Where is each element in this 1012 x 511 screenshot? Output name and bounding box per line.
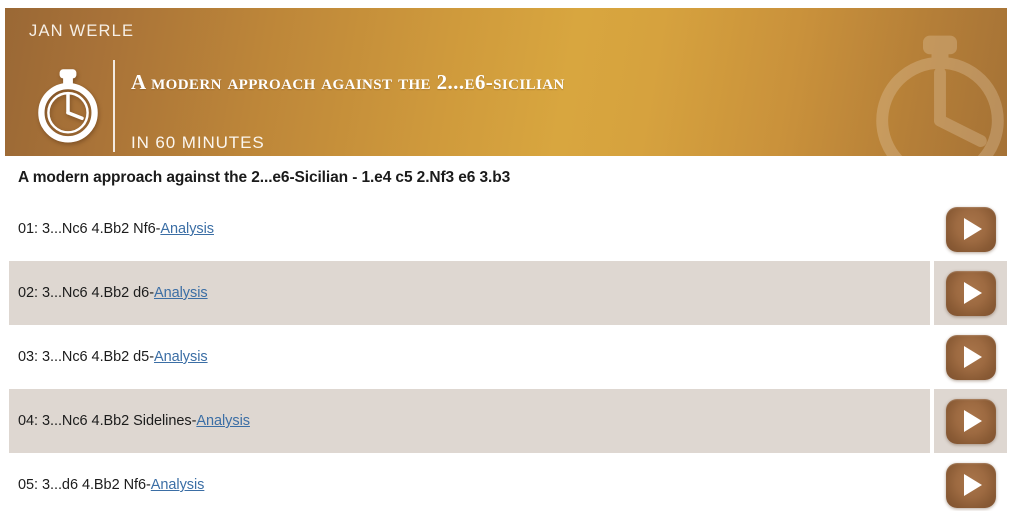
list-item[interactable]: 01: 3...Nc6 4.Bb2 Nf6 - Analysis [9,197,1007,261]
list-item[interactable]: 02: 3...Nc6 4.Bb2 d6 - Analysis [9,261,1007,325]
row-button-cell [934,261,1007,325]
chapter-title: A modern approach against the 2...e6-Sic… [0,156,1012,197]
row-move-label: 04: 3...Nc6 4.Bb2 Sidelines [18,413,192,429]
banner-divider [113,60,115,152]
play-icon[interactable] [946,271,996,316]
play-icon[interactable] [946,335,996,380]
play-icon[interactable] [946,207,996,252]
row-text: 05: 3...d6 4.Bb2 Nf6 - Analysis [9,453,930,511]
stopwatch-watermark-icon [855,22,1007,156]
analysis-link[interactable]: Analysis [151,477,205,493]
row-move-label: 05: 3...d6 4.Bb2 Nf6 [18,477,146,493]
play-icon[interactable] [946,463,996,508]
row-button-cell [934,197,1007,261]
play-triangle-glyph [964,282,982,304]
analysis-link[interactable]: Analysis [154,285,208,301]
play-triangle-glyph [964,346,982,368]
list-item[interactable]: 05: 3...d6 4.Bb2 Nf6 - Analysis [9,453,1007,511]
list-item[interactable]: 04: 3...Nc6 4.Bb2 Sidelines - Analysis [9,389,1007,453]
content-area: A modern approach against the 2...e6-Sic… [0,156,1012,511]
row-text: 04: 3...Nc6 4.Bb2 Sidelines - Analysis [9,389,930,453]
banner-title: A MODERN APPROACH AGAINST THE 2...E6-SIC… [131,70,565,95]
row-move-label: 02: 3...Nc6 4.Bb2 d6 [18,285,149,301]
play-triangle-glyph [964,218,982,240]
row-move-label: 01: 3...Nc6 4.Bb2 Nf6 [18,221,156,237]
stopwatch-icon [33,65,103,145]
row-text: 01: 3...Nc6 4.Bb2 Nf6 - Analysis [9,197,930,261]
author-name: JAN WERLE [29,22,134,41]
play-triangle-glyph [964,474,982,496]
row-move-label: 03: 3...Nc6 4.Bb2 d5 [18,349,149,365]
row-button-cell [934,389,1007,453]
analysis-link[interactable]: Analysis [196,413,250,429]
list-item[interactable]: 03: 3...Nc6 4.Bb2 d5 - Analysis [9,325,1007,389]
banner-subtitle: IN 60 MINUTES [131,133,265,153]
chapter-list: 01: 3...Nc6 4.Bb2 Nf6 - Analysis 02: 3..… [0,197,1012,511]
row-button-cell [934,453,1007,511]
page-root: JAN WERLE A MODERN APPROACH AGAINST THE … [0,0,1012,511]
analysis-link[interactable]: Analysis [160,221,214,237]
row-text: 02: 3...Nc6 4.Bb2 d6 - Analysis [9,261,930,325]
course-banner: JAN WERLE A MODERN APPROACH AGAINST THE … [5,8,1007,156]
row-button-cell [934,325,1007,389]
play-icon[interactable] [946,399,996,444]
row-text: 03: 3...Nc6 4.Bb2 d5 - Analysis [9,325,930,389]
analysis-link[interactable]: Analysis [154,349,208,365]
play-triangle-glyph [964,410,982,432]
